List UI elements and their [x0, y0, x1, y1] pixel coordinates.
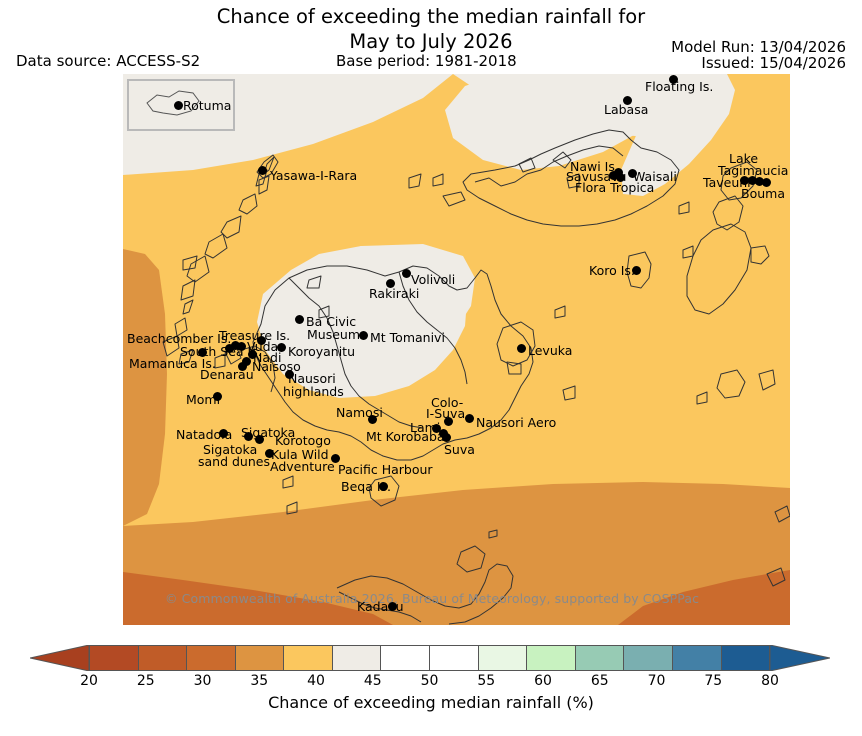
colorbar-axis-label: Chance of exceeding median rainfall (%) — [0, 693, 862, 712]
colorbar-ticks: 20253035404550556065707580 — [0, 673, 862, 691]
colorbar-tick-label: 55 — [477, 673, 495, 689]
colorbar-segments[interactable] — [89, 645, 770, 671]
colorbar-tick-label: 35 — [250, 673, 268, 689]
place-label: Denarau — [200, 368, 254, 381]
place-label: Mt Tomanivi — [370, 331, 445, 344]
colorbar-segment[interactable] — [89, 645, 139, 671]
place-label: Natadola — [176, 428, 232, 441]
colorbar-high-arrow — [770, 645, 830, 671]
colorbar-segment[interactable] — [187, 645, 236, 671]
place-marker[interactable] — [258, 166, 267, 175]
colorbar-tick-label: 75 — [704, 673, 722, 689]
issued-label: Issued: 15/04/2026 — [701, 54, 846, 72]
colorbar-segment[interactable] — [139, 645, 188, 671]
colorbar-low-arrow — [30, 645, 89, 671]
place-marker[interactable] — [174, 101, 183, 110]
colorbar-tick-label: 40 — [307, 673, 325, 689]
place-label: Yasawa-I-Rara — [270, 169, 357, 182]
colorbar-tick-label: 65 — [591, 673, 609, 689]
place-label: Korotogo — [275, 434, 331, 447]
colorbar-segment[interactable] — [284, 645, 333, 671]
colorbar-segment[interactable] — [236, 645, 285, 671]
colorbar-segment[interactable] — [381, 645, 430, 671]
colorbar[interactable]: 20253035404550556065707580 Chance of exc… — [0, 643, 862, 736]
colorbar-tick-label: 60 — [534, 673, 552, 689]
colorbar-tick-label: 45 — [364, 673, 382, 689]
place-label: Momi — [186, 393, 220, 406]
place-label: Suva — [444, 443, 475, 456]
place-label: Adventure — [270, 460, 335, 473]
colorbar-tick-label: 70 — [648, 673, 666, 689]
colorbar-segment[interactable] — [624, 645, 673, 671]
place-label: Volivoli — [411, 273, 455, 286]
place-label: Pacific Harbour — [338, 463, 433, 476]
place-marker[interactable] — [295, 315, 304, 324]
place-label: highlands — [283, 385, 344, 398]
colorbar-segment[interactable] — [576, 645, 625, 671]
colorbar-segment[interactable] — [527, 645, 576, 671]
place-marker[interactable] — [465, 414, 474, 423]
place-label: Levuka — [528, 344, 572, 357]
colorbar-tick-label: 25 — [137, 673, 155, 689]
colorbar-segment[interactable] — [479, 645, 528, 671]
base-period-label: Base period: 1981-2018 — [336, 52, 517, 70]
data-source-label: Data source: ACCESS-S2 — [16, 52, 200, 70]
place-label: Koroyanitu — [288, 345, 355, 358]
page-title-line1: Chance of exceeding the median rainfall … — [217, 5, 645, 28]
place-marker[interactable] — [359, 331, 368, 340]
place-marker[interactable] — [442, 433, 451, 442]
place-label: Bouma — [741, 187, 785, 200]
colorbar-tick-label: 80 — [761, 673, 779, 689]
place-label: Museum — [307, 328, 360, 341]
place-label: Namosi — [336, 406, 383, 419]
place-label: Beqa Is. — [341, 480, 391, 493]
colorbar-tick-label: 20 — [80, 673, 98, 689]
place-label: Nausori Aero — [476, 416, 556, 429]
place-label: sand dunes — [198, 455, 270, 468]
place-label: Rakiraki — [369, 287, 419, 300]
place-label: Rotuma — [183, 99, 231, 112]
place-label: Kadavu — [357, 600, 404, 613]
place-label: I-Suva — [426, 407, 465, 420]
colorbar-segment[interactable] — [673, 645, 722, 671]
colorbar-segment[interactable] — [333, 645, 382, 671]
place-marker[interactable] — [517, 344, 526, 353]
place-label: Mt Korobaba — [366, 430, 445, 443]
place-marker[interactable] — [402, 269, 411, 278]
weather-map-page: Chance of exceeding the median rainfall … — [0, 0, 862, 736]
place-label: Flora Tropica — [575, 181, 654, 194]
colorbar-tick-label: 50 — [421, 673, 439, 689]
colorbar-segment[interactable] — [722, 645, 771, 671]
colorbar-tick-label: 30 — [194, 673, 212, 689]
place-label: Koro Is. — [589, 264, 635, 277]
map-credit: © Commonwealth of Australia 2026, Bureau… — [165, 591, 699, 606]
place-label: Floating Is. — [645, 80, 713, 93]
colorbar-segment[interactable] — [430, 645, 479, 671]
place-label: Labasa — [604, 103, 648, 116]
